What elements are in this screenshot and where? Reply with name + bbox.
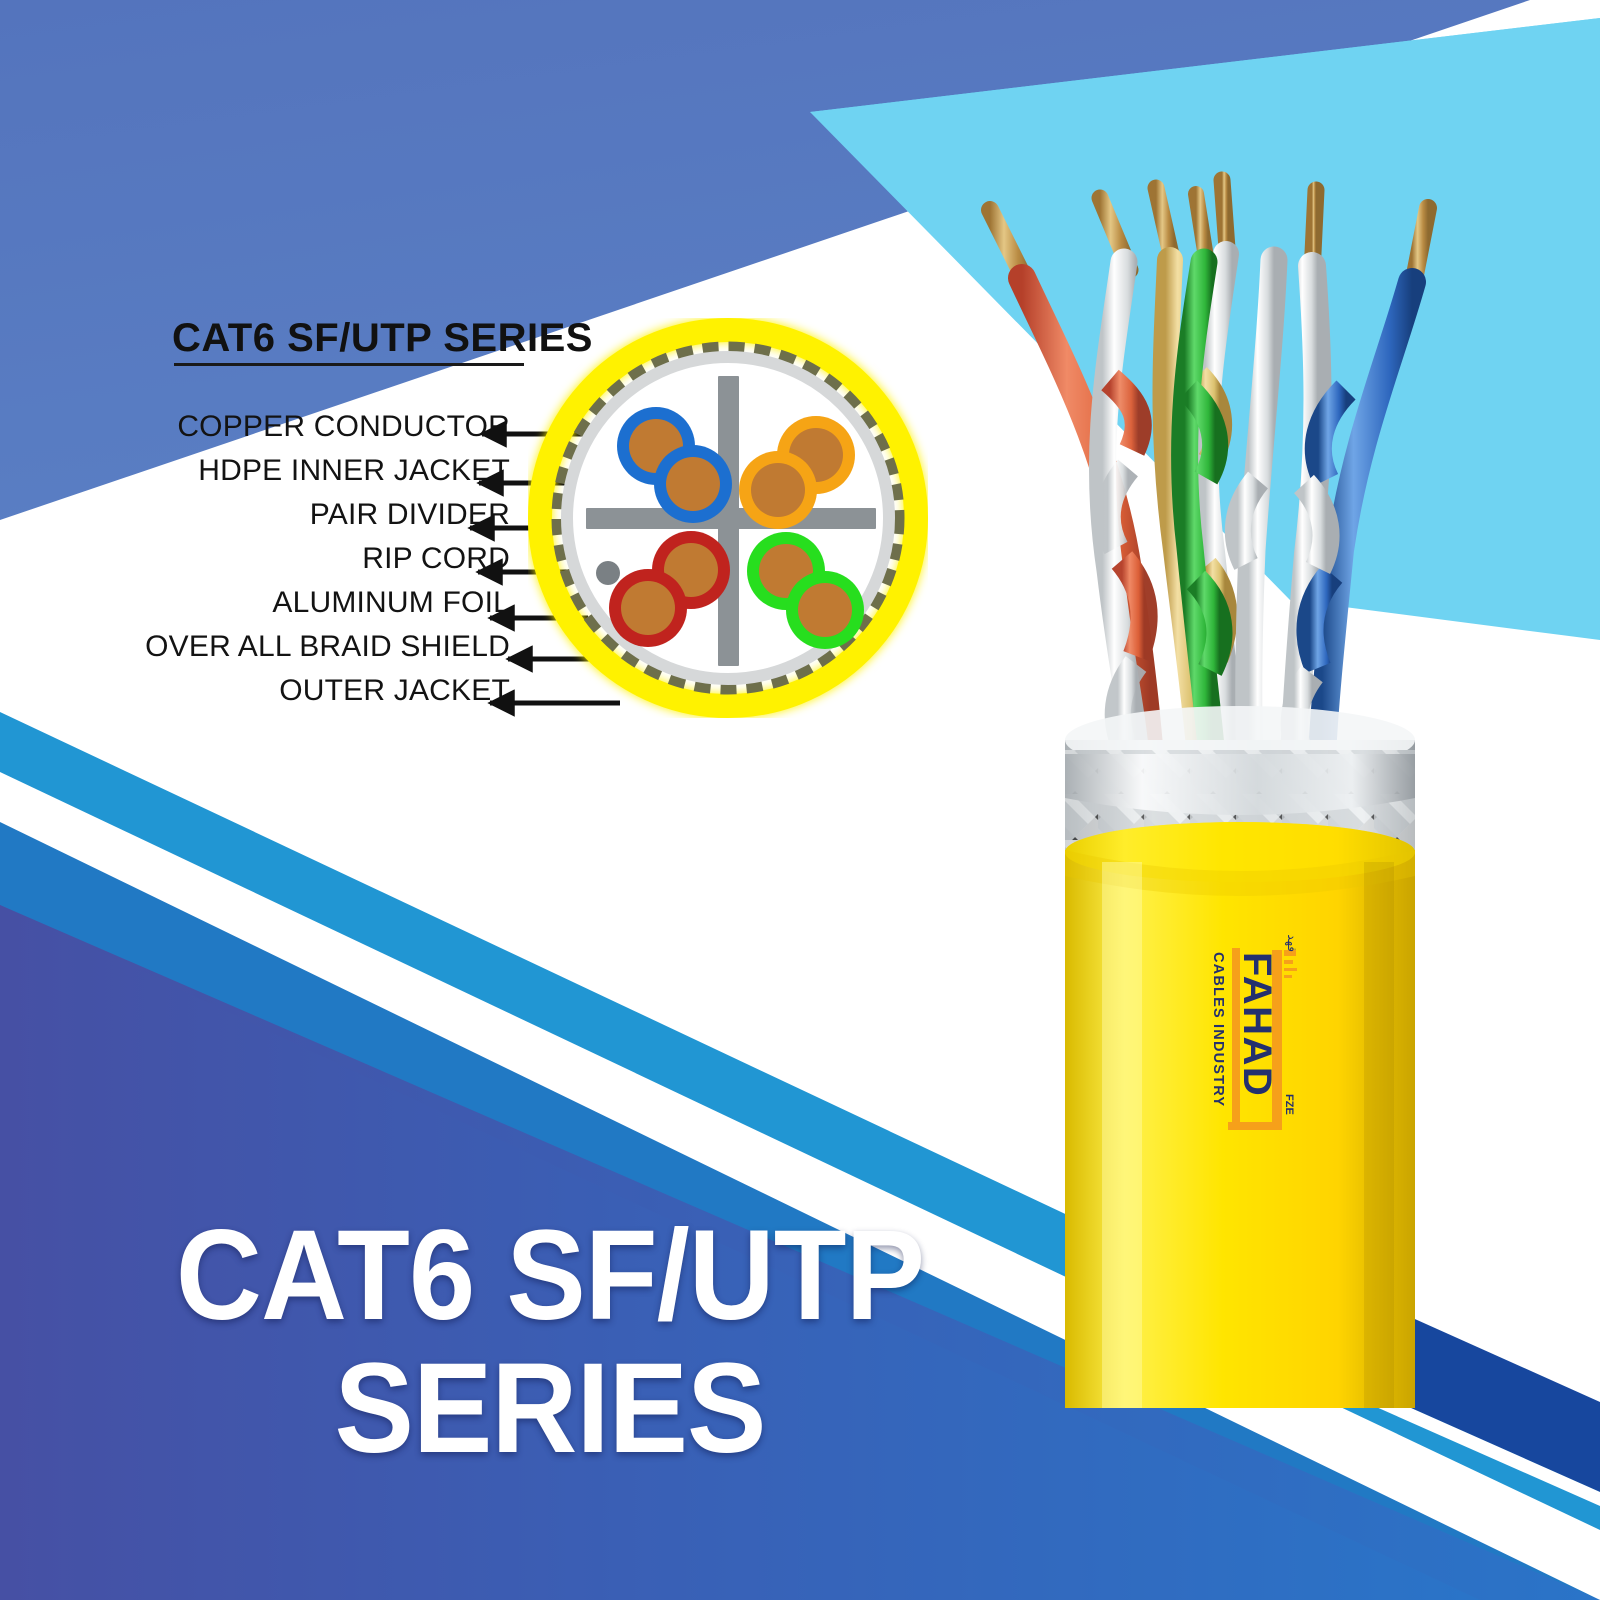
xsec-rip-cord	[596, 561, 620, 585]
brand-logo: FAHAD FZE فهد لمصنوعات الكابلات ذ.م.م CA…	[1168, 930, 1308, 1210]
page-title: CAT6 SF/UTP SERIES	[172, 316, 572, 361]
brand-wordmark: FAHAD	[1235, 952, 1279, 1097]
callout-label-copper-conductor: COPPER CONDUCTOR	[177, 410, 510, 444]
page-title-underline	[174, 363, 524, 366]
product-title-block: CAT6 SF/UTP SERIES	[0, 1215, 1100, 1471]
callout-row-rip-cord: RIP CORD	[0, 537, 520, 581]
product-title-line1: CAT6 SF/UTP	[39, 1215, 1062, 1338]
callout-label-outer-jacket: OUTER JACKET	[279, 674, 510, 708]
product-title-line2: SERIES	[39, 1348, 1062, 1471]
brand-tagline: CABLES INDUSTRY	[1210, 952, 1226, 1107]
callout-row-overall-braid-shield: OVER ALL BRAID SHIELD	[0, 625, 520, 669]
callout-label-rip-cord: RIP CORD	[362, 542, 510, 576]
cable-twisted-pairs	[990, 180, 1428, 758]
brand-arabic: فهد لمصنوعات الكابلات ذ.م.م	[1284, 930, 1299, 952]
callout-row-outer-jacket: OUTER JACKET	[0, 669, 520, 713]
callout-row-aluminum-foil: ALUMINUM FOIL	[0, 581, 520, 625]
infographic-canvas: CAT6 SF/UTP SERIES COPPER CONDUCTOR HDPE…	[0, 0, 1600, 1600]
callout-label-aluminum-foil: ALUMINUM FOIL	[272, 586, 510, 620]
callout-label-list: COPPER CONDUCTOR HDPE INNER JACKET PAIR …	[0, 405, 520, 713]
callout-row-copper-conductor: COPPER CONDUCTOR	[0, 405, 520, 449]
callout-label-pair-divider: PAIR DIVIDER	[310, 498, 510, 532]
callout-row-hdpe-inner-jacket: HDPE INNER JACKET	[0, 449, 520, 493]
callout-label-overall-braid-shield: OVER ALL BRAID SHIELD	[145, 630, 510, 664]
callout-row-pair-divider: PAIR DIVIDER	[0, 493, 520, 537]
brand-suffix: FZE	[1283, 1094, 1295, 1115]
cable-cross-section-diagram	[528, 318, 928, 718]
callout-label-hdpe-inner-jacket: HDPE INNER JACKET	[198, 454, 510, 488]
